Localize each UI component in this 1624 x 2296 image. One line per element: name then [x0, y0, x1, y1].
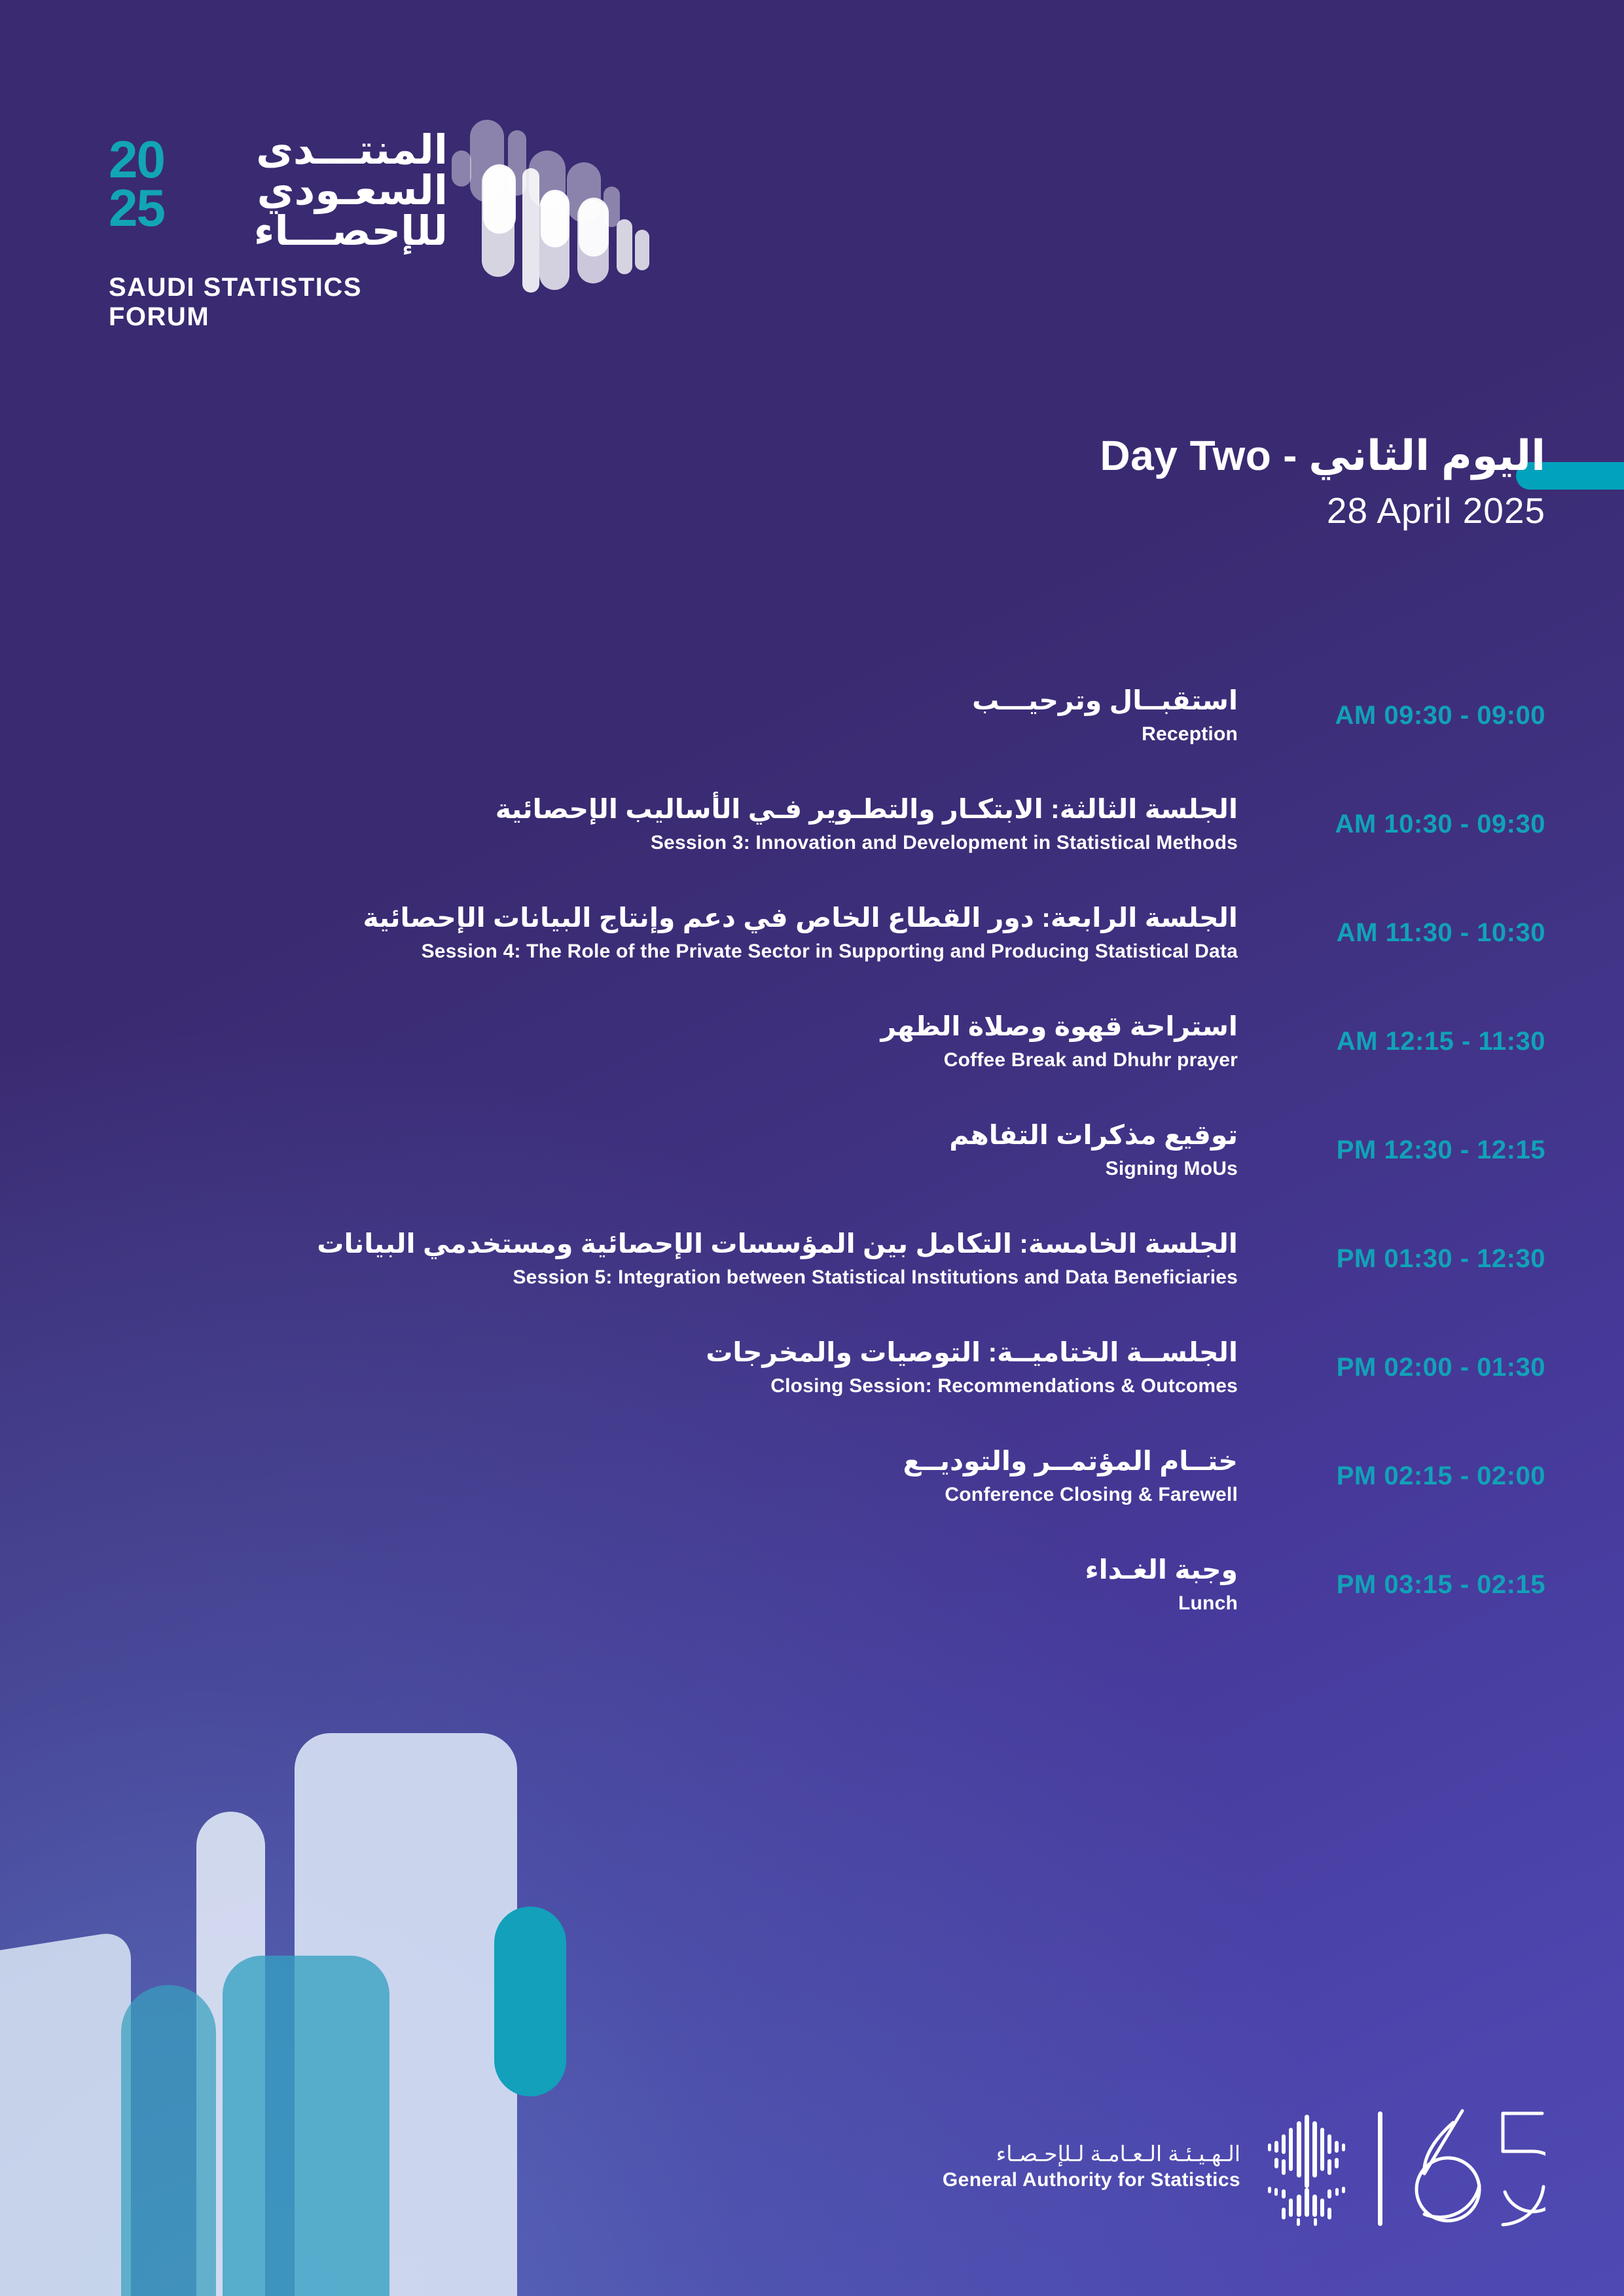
- forum-logo-arabic-line-1: المنتـــدى: [199, 130, 448, 171]
- schedule-row-text: الجلســة الختاميــة: التوصيات والمخرجات …: [111, 1335, 1284, 1400]
- schedule-time: AM 10:30 - 09:30: [1284, 810, 1545, 839]
- schedule-title-arabic: الجلســة الختاميــة: التوصيات والمخرجات: [111, 1335, 1238, 1369]
- schedule-title-arabic: الجلسة الخامسة: التكامل بين المؤسسات الإ…: [111, 1227, 1238, 1261]
- schedule-row: استقبــال وترحيـــب Reception AM 09:30 -…: [111, 661, 1545, 770]
- schedule-title-arabic: استقبــال وترحيـــب: [111, 683, 1238, 717]
- day-title: اليوم الثاني - Day Two: [564, 432, 1545, 480]
- schedule-time: AM 09:30 - 09:00: [1284, 701, 1545, 730]
- forum-logo-english: SAUDI STATISTICS FORUM: [109, 273, 452, 332]
- schedule-title-arabic: الجلسة الرابعة: دور القطاع الخاص في دعم …: [111, 901, 1238, 935]
- schedule-row-text: ختــام المؤتمــر والتوديــع Conference C…: [111, 1444, 1284, 1509]
- schedule-time: PM 12:30 - 12:15: [1284, 1136, 1545, 1165]
- schedule-row-text: الجلسة الخامسة: التكامل بين المؤسسات الإ…: [111, 1227, 1284, 1291]
- schedule-row: توقيع مذكرات التفاهم Signing MoUs PM 12:…: [111, 1096, 1545, 1204]
- schedule-time: PM 03:15 - 02:15: [1284, 1570, 1545, 1600]
- schedule-title-arabic: استراحة قهوة وصلاة الظهر: [111, 1009, 1238, 1043]
- forum-logo-arabic: المنتـــدى السعـودي للإحصـــاء: [199, 130, 448, 252]
- schedule-time: AM 12:15 - 11:30: [1284, 1027, 1545, 1056]
- schedule-title-arabic: وجبة الغـداء: [111, 1552, 1238, 1587]
- schedule-title-arabic: توقيع مذكرات التفاهم: [111, 1118, 1238, 1152]
- schedule-row: استراحة قهوة وصلاة الظهر Coffee Break an…: [111, 987, 1545, 1096]
- schedule-title-english: Signing MoUs: [111, 1156, 1238, 1183]
- day-date: 28 April 2025: [564, 488, 1545, 533]
- schedule-title-arabic: الجلسة الثالثة: الابتكـار والتطـوير فـي …: [111, 792, 1238, 826]
- footer-logos: الـهـيـئـة الـعـامـة لـلإحـصـاء General …: [943, 2103, 1545, 2234]
- schedule-title-english: Session 3: Innovation and Development in…: [111, 830, 1238, 857]
- footer-divider: [1378, 2111, 1382, 2226]
- schedule-row: الجلسة الرابعة: دور القطاع الخاص في دعم …: [111, 878, 1545, 987]
- day-header: اليوم الثاني - Day Two 28 April 2025: [564, 432, 1545, 533]
- schedule-title-english: Reception: [111, 721, 1238, 748]
- schedule-row-text: وجبة الغـداء Lunch: [111, 1552, 1284, 1617]
- schedule-title-english: Session 4: The Role of the Private Secto…: [111, 939, 1238, 965]
- schedule-row: ختــام المؤتمــر والتوديــع Conference C…: [111, 1422, 1545, 1530]
- schedule-row-text: استراحة قهوة وصلاة الظهر Coffee Break an…: [111, 1009, 1284, 1074]
- schedule-row-text: استقبــال وترحيـــب Reception: [111, 683, 1284, 748]
- schedule-row-text: توقيع مذكرات التفاهم Signing MoUs: [111, 1118, 1284, 1183]
- schedule-title-english: Closing Session: Recommendations & Outco…: [111, 1373, 1238, 1400]
- schedule-time: AM 11:30 - 10:30: [1284, 918, 1545, 948]
- schedule-title-english: Coffee Break and Dhuhr prayer: [111, 1047, 1238, 1074]
- anniversary-65-icon: [1405, 2103, 1545, 2234]
- forum-logo-year-bottom: 25: [109, 184, 164, 232]
- gastat-name-english: General Authority for Statistics: [943, 2167, 1240, 2193]
- schedule-list: استقبــال وترحيـــب Reception AM 09:30 -…: [111, 661, 1545, 1639]
- schedule-title-arabic: ختــام المؤتمــر والتوديــع: [111, 1444, 1238, 1478]
- schedule-row-text: الجلسة الرابعة: دور القطاع الخاص في دعم …: [111, 901, 1284, 965]
- waveform-logo-icon: [452, 88, 668, 298]
- schedule-row-text: الجلسة الثالثة: الابتكـار والتطـوير فـي …: [111, 792, 1284, 857]
- schedule-time: PM 02:15 - 02:00: [1284, 1462, 1545, 1491]
- forum-logo-year: 20 25: [109, 135, 164, 232]
- decorative-bars-graphic: [0, 1720, 628, 2296]
- schedule-time: PM 01:30 - 12:30: [1284, 1244, 1545, 1274]
- forum-logo-arabic-line-3: للإحصـــاء: [199, 211, 448, 252]
- schedule-row: الجلســة الختاميــة: التوصيات والمخرجات …: [111, 1313, 1545, 1422]
- schedule-row: الجلسة الخامسة: التكامل بين المؤسسات الإ…: [111, 1204, 1545, 1313]
- forum-logo-year-top: 20: [109, 135, 164, 184]
- poster-canvas: 20 25 المنتـــدى السعـودي للإحصـــاء SAU…: [0, 0, 1624, 2296]
- schedule-row: الجلسة الثالثة: الابتكـار والتطـوير فـي …: [111, 770, 1545, 878]
- schedule-time: PM 02:00 - 01:30: [1284, 1353, 1545, 1382]
- gastat-wordmark: الـهـيـئـة الـعـامـة لـلإحـصـاء General …: [943, 2140, 1240, 2197]
- forum-logo-arabic-line-2: السعـودي: [199, 171, 448, 211]
- gastat-palm-icon: [1257, 2103, 1356, 2234]
- forum-logo: 20 25 المنتـــدى السعـودي للإحصـــاء SAU…: [98, 128, 452, 301]
- schedule-title-english: Conference Closing & Farewell: [111, 1482, 1238, 1509]
- schedule-title-english: Session 5: Integration between Statistic…: [111, 1265, 1238, 1291]
- schedule-row: وجبة الغـداء Lunch PM 03:15 - 02:15: [111, 1530, 1545, 1639]
- schedule-title-english: Lunch: [111, 1590, 1238, 1617]
- gastat-name-arabic: الـهـيـئـة الـعـامـة لـلإحـصـاء: [943, 2140, 1240, 2167]
